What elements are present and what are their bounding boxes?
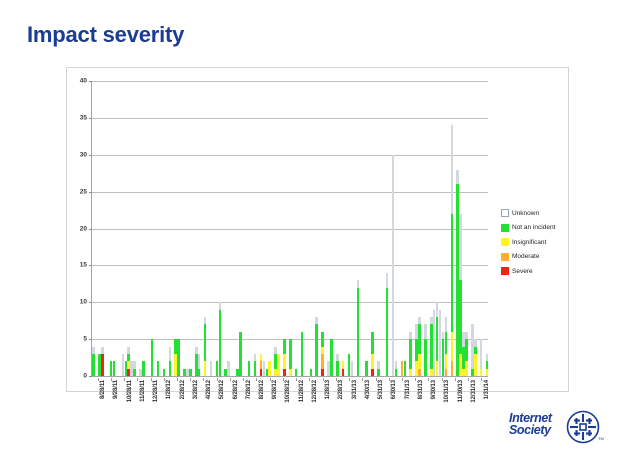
x-axis-tick [217, 378, 218, 381]
x-axis-tick-label: 7/28/12 [246, 380, 252, 399]
legend-item-label: Insignificant [512, 239, 546, 246]
x-axis-tick [164, 378, 165, 381]
x-axis-tick-label: 12/31/13 [471, 380, 477, 403]
bar-segment [486, 369, 489, 376]
y-axis-tick-label: 35 [80, 114, 87, 121]
x-axis-tick [442, 378, 443, 381]
y-axis-tick-label: 5 [83, 336, 87, 343]
x-axis-tick [283, 378, 284, 381]
legend-swatch-icon [501, 238, 509, 246]
slide-root: Impact severity 0510152025303540 8/28/11… [0, 0, 618, 459]
legend-item[interactable]: Not an incident [501, 221, 567, 236]
x-axis-tick-label: 12/28/11 [153, 380, 159, 402]
legend-item[interactable]: Unknown [501, 206, 567, 221]
x-axis-tick [402, 378, 403, 381]
x-axis-tick [455, 378, 456, 381]
logo-trademark: TM [598, 436, 604, 441]
x-axis-tick-label: 2/28/13 [338, 380, 344, 399]
x-axis-tick-label: 10/28/11 [127, 380, 133, 402]
x-axis-tick [362, 378, 363, 381]
legend-swatch-icon [501, 209, 509, 217]
x-axis-tick-label: 7/31/13 [405, 380, 411, 399]
legend-swatch-icon [501, 253, 509, 261]
x-axis-tick-label: 10/28/12 [285, 380, 291, 403]
plot-area: 0510152025303540 [91, 81, 488, 377]
y-axis-tick [89, 376, 92, 377]
gridline [92, 376, 488, 377]
chart-legend: UnknownNot an incidentInsignificantModer… [501, 206, 567, 279]
x-axis-tick-label: 8/28/11 [100, 380, 106, 399]
x-axis-tick [428, 378, 429, 381]
x-axis-tick-label: 8/28/12 [259, 380, 265, 399]
x-axis-tick [376, 378, 377, 381]
bar[interactable] [486, 81, 489, 376]
x-axis-tick-label: 11/30/13 [458, 380, 464, 402]
x-axis-tick-label: 6/28/12 [233, 380, 239, 399]
x-axis-tick [243, 378, 244, 381]
x-axis-tick-label: 5/28/12 [219, 380, 225, 399]
x-axis-tick-label: 4/30/13 [365, 380, 371, 399]
legend-item-label: Moderate [512, 253, 539, 260]
y-axis-tick-label: 40 [80, 78, 87, 85]
y-axis-tick-label: 15 [80, 262, 87, 269]
bar-segment [486, 361, 489, 368]
x-axis-tick [256, 378, 257, 381]
internet-society-globe-mark-icon [566, 410, 600, 444]
x-axis-tick [270, 378, 271, 381]
x-axis-tick [190, 378, 191, 381]
x-axis-tick [137, 378, 138, 381]
logo-line-2: Society [509, 425, 552, 437]
bar-segment [486, 354, 489, 361]
legend-item[interactable]: Insignificant [501, 235, 567, 250]
legend-item-label: Not an incident [512, 224, 555, 231]
y-axis-tick-label: 10 [80, 299, 87, 306]
legend-swatch-icon [501, 224, 509, 232]
x-axis-tick [349, 378, 350, 381]
x-axis-tick [230, 378, 231, 381]
x-axis-tick-label: 9/30/13 [431, 380, 437, 399]
x-axis-tick-label: 5/31/13 [378, 380, 384, 399]
x-axis-tick-label: 2/28/12 [180, 380, 186, 399]
x-axis-tick [415, 378, 416, 381]
x-axis-tick [468, 378, 469, 381]
x-axis-tick [177, 378, 178, 381]
x-axis-tick-label: 11/28/11 [140, 380, 146, 402]
legend-swatch-icon [501, 267, 509, 275]
legend-item[interactable]: Severe [501, 264, 567, 279]
page-title: Impact severity [27, 22, 184, 48]
y-axis-tick-label: 0 [83, 373, 87, 380]
x-axis-tick-label: 10/31/13 [444, 380, 450, 403]
legend-item-label: Unknown [512, 210, 539, 217]
x-axis-tick [389, 378, 390, 381]
x-axis-tick [309, 378, 310, 381]
x-axis-tick-label: 11/28/12 [299, 380, 305, 402]
legend-item[interactable]: Moderate [501, 250, 567, 265]
legend-item-label: Severe [512, 268, 533, 275]
x-axis-tick [98, 378, 99, 381]
x-axis-tick [111, 378, 112, 381]
bar-series-container [92, 81, 488, 376]
x-axis-tick-label: 1/28/13 [325, 380, 331, 399]
logo-text: Internet Society [509, 413, 552, 436]
x-axis-tick [336, 378, 337, 381]
x-axis-tick-label: 8/31/13 [418, 380, 424, 399]
internet-society-logo: Internet Society [509, 408, 601, 448]
x-axis-tick-label: 12/28/12 [312, 380, 318, 403]
chart-frame: 0510152025303540 8/28/119/28/1110/28/111… [66, 67, 569, 392]
x-axis-tick-label: 4/28/12 [206, 380, 212, 399]
x-axis-tick-label: 9/28/11 [113, 380, 119, 399]
x-axis-tick-label: 3/31/13 [352, 380, 358, 399]
x-axis-tick [481, 378, 482, 381]
x-axis-tick-label: 3/28/12 [193, 380, 199, 399]
y-axis-tick-label: 20 [80, 225, 87, 232]
x-axis-tick-label: 6/30/13 [391, 380, 397, 399]
y-axis-tick-label: 30 [80, 151, 87, 158]
x-axis-tick [323, 378, 324, 381]
x-axis-tick [124, 378, 125, 381]
x-axis-tick-label: 1/31/14 [484, 380, 490, 399]
x-axis-tick [151, 378, 152, 381]
x-axis-tick-label: 9/28/12 [272, 380, 278, 399]
x-axis-tick [203, 378, 204, 381]
y-axis-tick-label: 25 [80, 188, 87, 195]
x-axis-tick [296, 378, 297, 381]
x-axis-tick-label: 1/28/12 [166, 380, 172, 399]
